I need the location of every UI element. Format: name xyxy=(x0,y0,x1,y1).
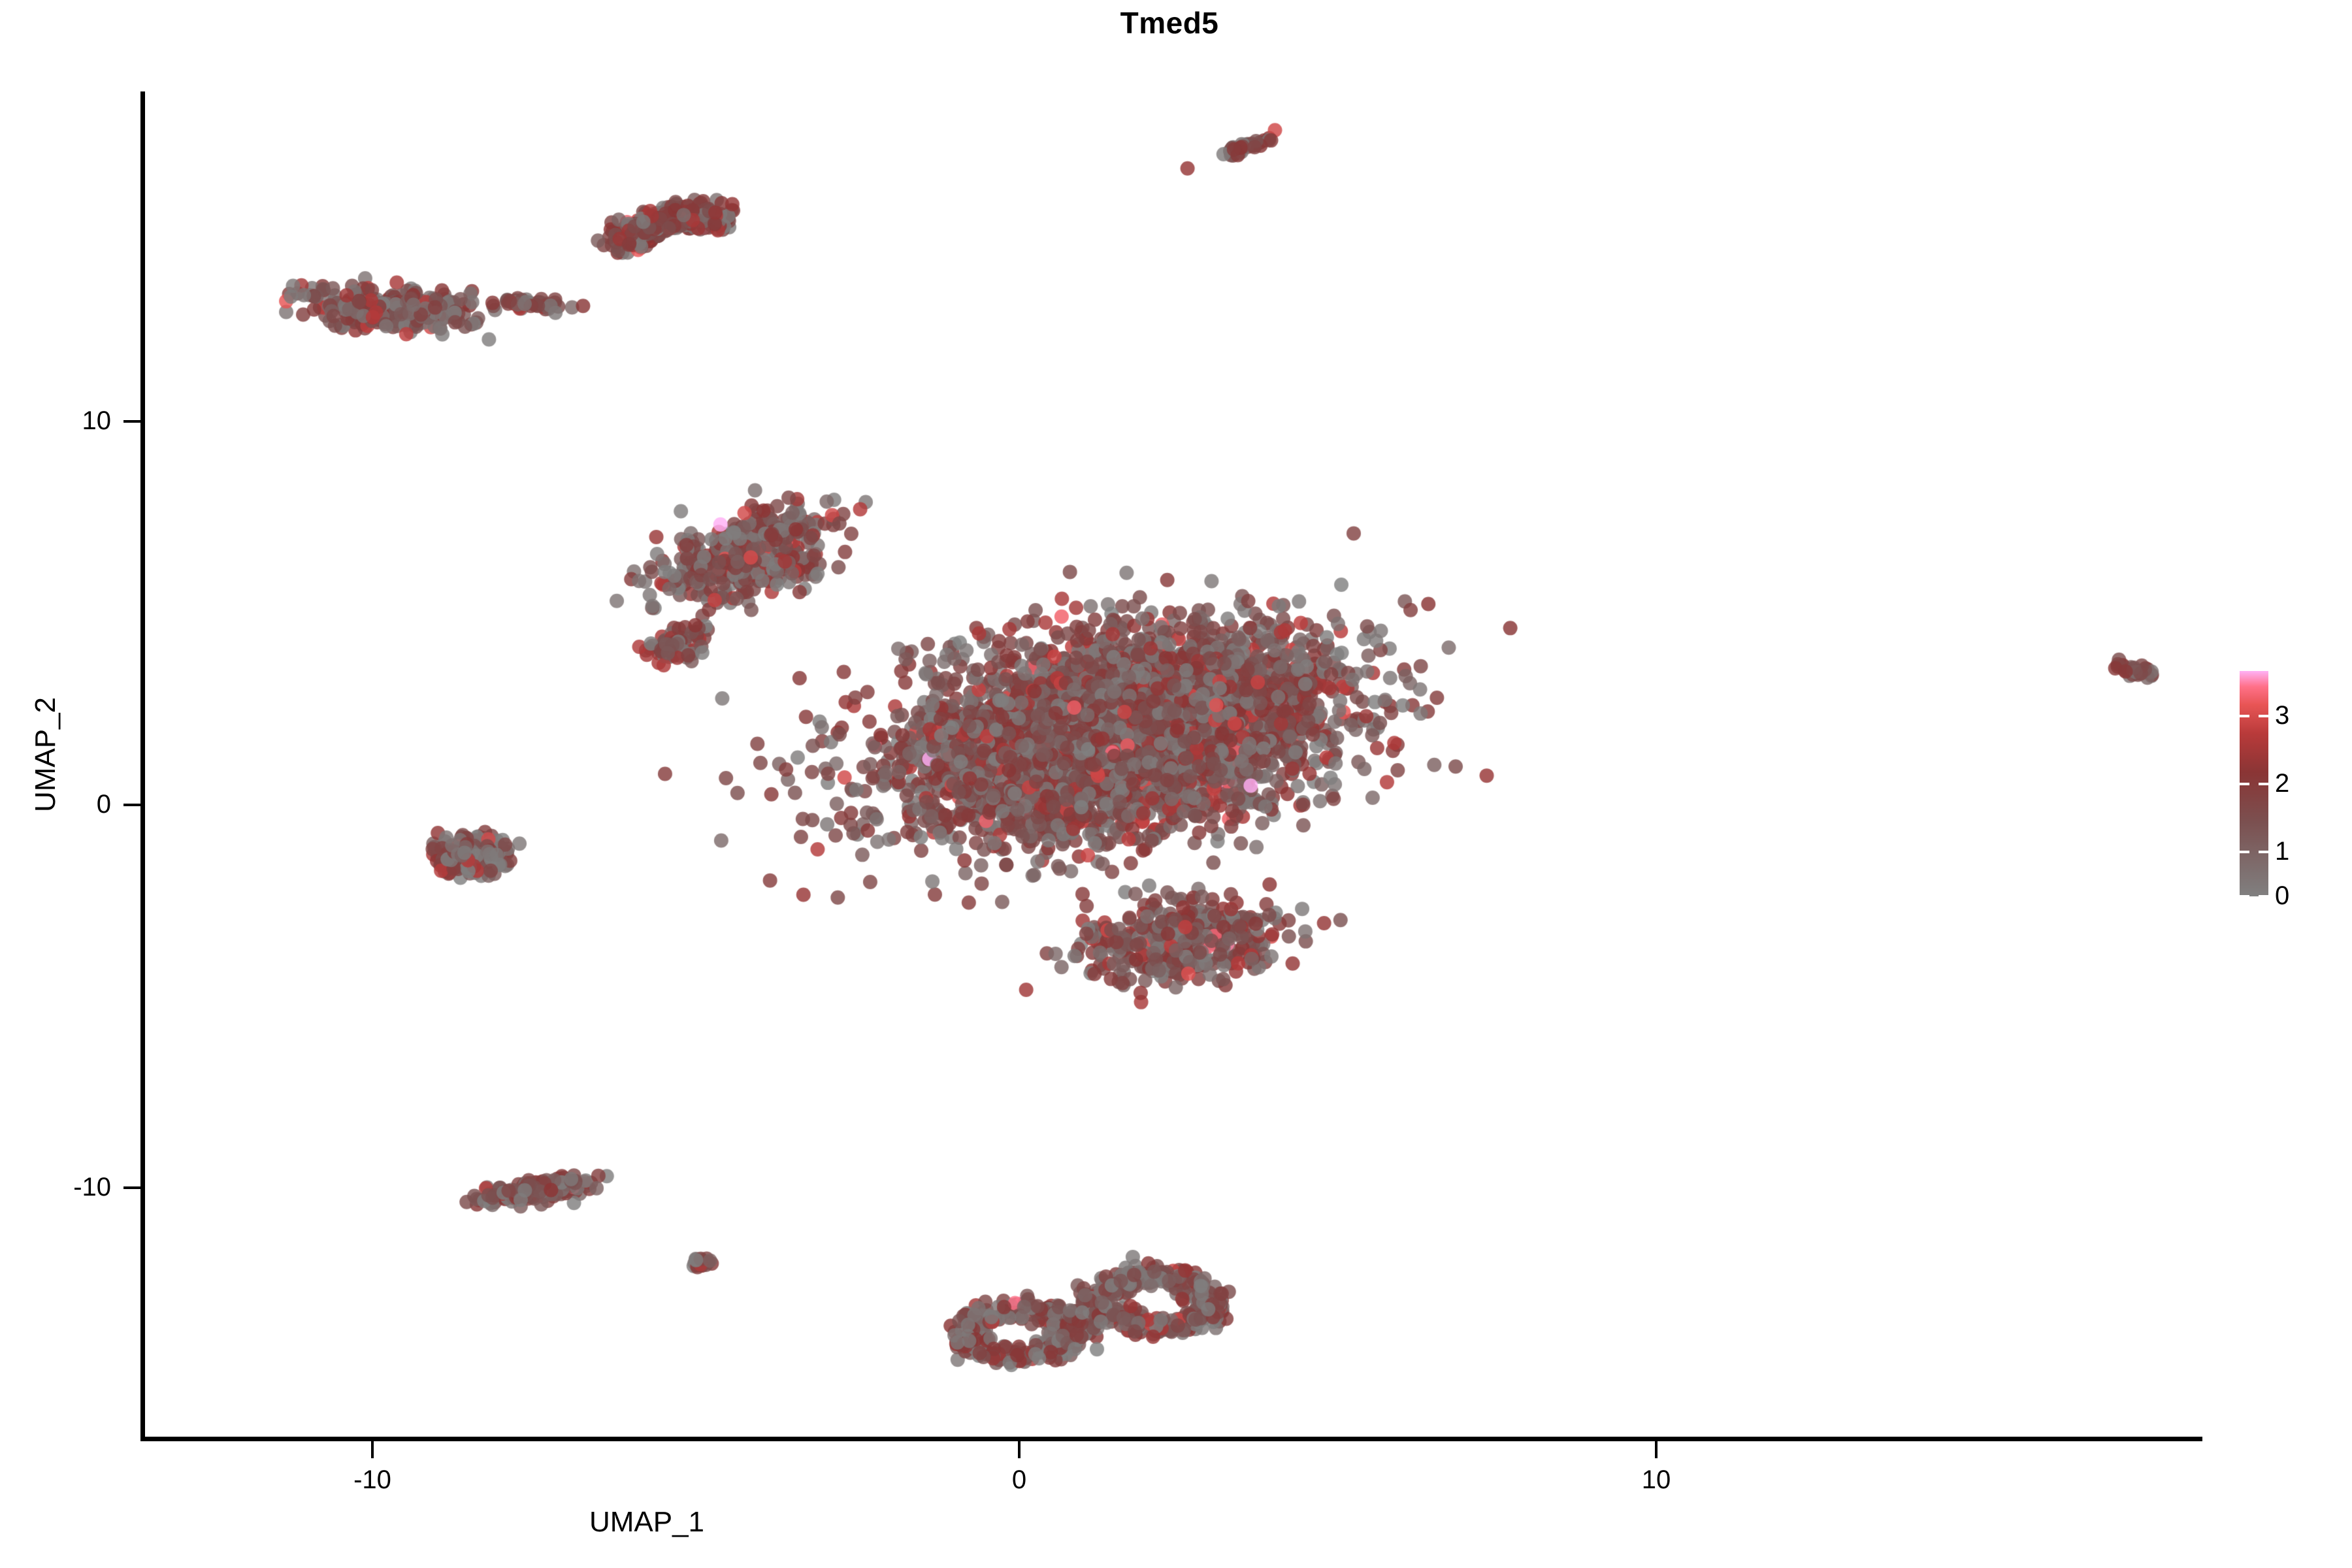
y-axis-label: UMAP_2 xyxy=(29,493,62,1016)
plot-panel xyxy=(144,91,2202,1439)
x-axis-label: UMAP_1 xyxy=(0,1506,2352,1539)
legend-tick-0-right xyxy=(2259,895,2268,898)
legend-label-0: 0 xyxy=(2275,883,2289,909)
x-tick-mark-2 xyxy=(1655,1441,1658,1458)
x-tick-label-0: -10 xyxy=(301,1465,444,1495)
y-tick-mark-1 xyxy=(123,804,140,806)
y-tick-label-2: -10 xyxy=(0,1173,111,1202)
x-tick-mark-1 xyxy=(1018,1441,1021,1458)
legend-tick-1-left xyxy=(2240,851,2249,853)
scatter-canvas xyxy=(144,91,2202,1439)
y-tick-mark-0 xyxy=(123,420,140,423)
legend-tick-3-right xyxy=(2259,715,2268,717)
legend-tick-0-left xyxy=(2240,895,2249,898)
color-legend: 3 2 1 0 xyxy=(2234,663,2345,908)
legend-label-2: 2 xyxy=(2275,770,2289,796)
legend-tick-2-left xyxy=(2240,783,2249,785)
x-tick-label-1: 0 xyxy=(947,1465,1091,1495)
legend-tick-2-right xyxy=(2259,783,2268,785)
x-tick-label-2: 10 xyxy=(1584,1465,1728,1495)
legend-tick-1-right xyxy=(2259,851,2268,853)
y-tick-label-0: 10 xyxy=(0,406,111,436)
umap-feature-plot: Tmed5 -10 0 10 10 0 -10 UMAP_1 UMAP_2 3 … xyxy=(0,0,2352,1568)
legend-label-3: 3 xyxy=(2275,702,2289,728)
plot-title-text: Tmed5 xyxy=(1120,6,1219,40)
page-title: Tmed5 xyxy=(0,5,2352,41)
x-tick-mark-0 xyxy=(371,1441,374,1458)
y-tick-mark-2 xyxy=(123,1186,140,1189)
x-axis-label-text: UMAP_1 xyxy=(589,1506,704,1538)
y-axis-line xyxy=(140,91,145,1441)
x-axis-line xyxy=(140,1437,2202,1441)
legend-tick-3-left xyxy=(2240,715,2249,717)
legend-label-1: 1 xyxy=(2275,838,2289,864)
